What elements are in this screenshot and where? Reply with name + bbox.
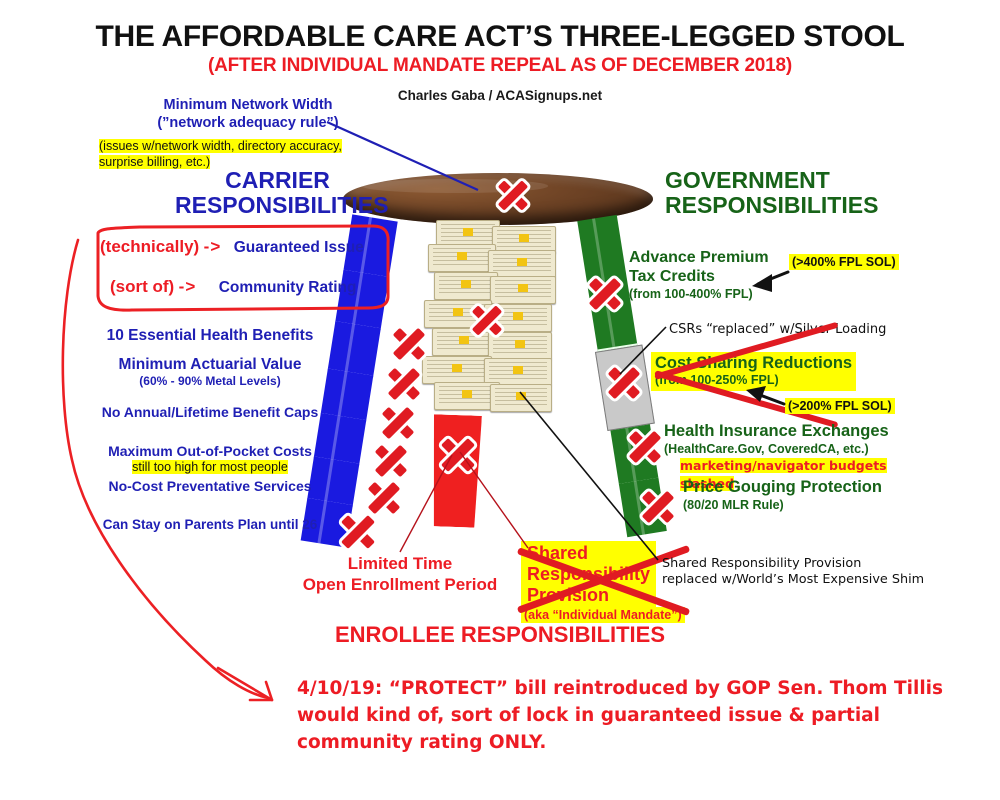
- limited-line1: Limited Time: [275, 553, 525, 574]
- x-mark-green-leg-shim: [604, 363, 644, 403]
- community-rating-qualifier: (sort of): [110, 277, 174, 296]
- carrier-item-benefit-caps: No Annual/Lifetime Benefit Caps: [40, 404, 380, 422]
- carrier-item-1-label: Minimum Actuarial Value: [40, 356, 380, 374]
- enrollee-heading: ENROLLEE RESPONSIBILITIES: [250, 622, 750, 648]
- x-mark-green-leg-4: [638, 487, 678, 527]
- carrier-item-5-label: Can Stay on Parents Plan until 26: [103, 517, 318, 532]
- carrier-heading-line1: CARRIER: [175, 168, 380, 193]
- carrier-item-preventative: No-Cost Preventative Services: [40, 478, 380, 496]
- circled-item-guaranteed-issue: (technically) -> Guaranteed Issue: [100, 237, 400, 257]
- shim-note-line1: Shared Responsibility Provision: [662, 556, 962, 572]
- exchanges-label: Health Insurance Exchanges: [664, 422, 944, 441]
- footnote-line3: community rating ONLY.: [297, 729, 957, 756]
- x-strike-cost-sharing-reductions: [655, 348, 835, 398]
- carrier-item-essential-benefits: 10 Essential Health Benefits: [40, 327, 380, 345]
- footnote-line1: 4/10/19: “PROTECT” bill reintroduced by …: [297, 675, 957, 702]
- limited-time-open-enrollment: Limited Time Open Enrollment Period: [275, 553, 525, 595]
- enrollee-heading-text: ENROLLEE RESPONSIBILITIES: [335, 622, 665, 647]
- page-title: THE AFFORDABLE CARE ACT’S THREE-LEGGED S…: [0, 20, 1000, 54]
- csr-sol-badge: (>200% FPL SOL): [785, 397, 895, 415]
- carrier-item-3-highlight: still too high for most people: [132, 460, 288, 474]
- carrier-item-oop-costs: Maximum Out-of-Pocket Costs still too hi…: [40, 443, 380, 474]
- network-width-line1: Minimum Network Width: [98, 96, 398, 114]
- x-mark-blue-leg-3: [378, 403, 418, 443]
- footnote: 4/10/19: “PROTECT” bill reintroduced by …: [297, 675, 957, 756]
- government-heading-line1: GOVERNMENT: [665, 168, 905, 193]
- price-gouging-protection: Price Gouging Protection (80/20 MLR Rule…: [683, 478, 933, 513]
- price-label: Price Gouging Protection: [683, 478, 933, 497]
- price-sub: (80/20 MLR Rule): [683, 497, 933, 513]
- network-width-note: Minimum Network Width (”network adequacy…: [98, 96, 398, 132]
- carrier-item-0-label: 10 Essential Health Benefits: [107, 327, 314, 344]
- x-mark-blue-leg-1: [389, 324, 429, 364]
- circled-item-community-rating: (sort of) -> Community Rating: [110, 277, 410, 297]
- government-heading-line2: RESPONSIBILITIES: [665, 193, 905, 218]
- guaranteed-issue-qualifier: (technically): [100, 237, 199, 256]
- community-rating-arrow: ->: [179, 277, 197, 296]
- carrier-item-parents-plan: Can Stay on Parents Plan until 26: [40, 516, 380, 534]
- x-mark-seat: [494, 176, 532, 214]
- community-rating-label: Community Rating: [219, 279, 357, 296]
- csr-badge-text: (>200% FPL SOL): [785, 398, 895, 414]
- network-width-line2: (”network adequacy rule”): [98, 114, 398, 132]
- carrier-item-3-label: Maximum Out-of-Pocket Costs: [40, 443, 380, 459]
- limited-line2: Open Enrollment Period: [275, 574, 525, 595]
- carrier-heading-line2: RESPONSIBILITIES: [175, 193, 380, 218]
- carrier-heading: CARRIER RESPONSIBILITIES: [175, 168, 380, 218]
- carrier-item-4-label: No-Cost Preventative Services: [108, 478, 311, 494]
- carrier-item-1-sub: (60% - 90% Metal Levels): [40, 374, 380, 388]
- carrier-item-2-label: No Annual/Lifetime Benefit Caps: [102, 404, 319, 420]
- x-mark-money: [468, 301, 506, 339]
- csr-silver-loading-note: CSRs “replaced” w/Silver Loading: [669, 320, 886, 338]
- x-mark-blue-leg-2: [384, 364, 424, 404]
- network-issues-highlight: (issues w/network width, directory accur…: [99, 138, 379, 170]
- apc-sol-badge: (>400% FPL SOL): [789, 253, 899, 271]
- x-mark-green-leg-1: [585, 274, 625, 314]
- x-mark-red-leg: [437, 434, 479, 476]
- apc-badge-text: (>400% FPL SOL): [789, 254, 899, 270]
- carrier-item-actuarial-value: Minimum Actuarial Value (60% - 90% Metal…: [40, 356, 380, 388]
- infographic-canvas: THE AFFORDABLE CARE ACT’S THREE-LEGGED S…: [0, 0, 1000, 800]
- page-subtitle: (AFTER INDIVIDUAL MANDATE REPEAL AS OF D…: [0, 55, 1000, 77]
- csr-note-text: CSRs “replaced” w/Silver Loading: [669, 322, 886, 337]
- network-issues-line2: surprise billing, etc.): [99, 155, 210, 169]
- shim-note: Shared Responsibility Provision replaced…: [662, 556, 962, 588]
- guaranteed-issue-arrow: ->: [204, 237, 222, 256]
- footnote-line2: would kind of, sort of lock in guarantee…: [297, 702, 957, 729]
- x-mark-green-leg-3: [625, 427, 665, 467]
- government-heading: GOVERNMENT RESPONSIBILITIES: [665, 168, 905, 218]
- exchanges-sub: (HealthCare.Gov, CoveredCA, etc.): [664, 441, 944, 457]
- guaranteed-issue-label: Guaranteed Issue: [234, 239, 364, 256]
- apc-sub: (from 100-400% FPL): [629, 286, 829, 302]
- shim-note-line2: replaced w/World’s Most Expensive Shim: [662, 572, 962, 588]
- network-issues-line1: (issues w/network width, directory accur…: [99, 139, 342, 153]
